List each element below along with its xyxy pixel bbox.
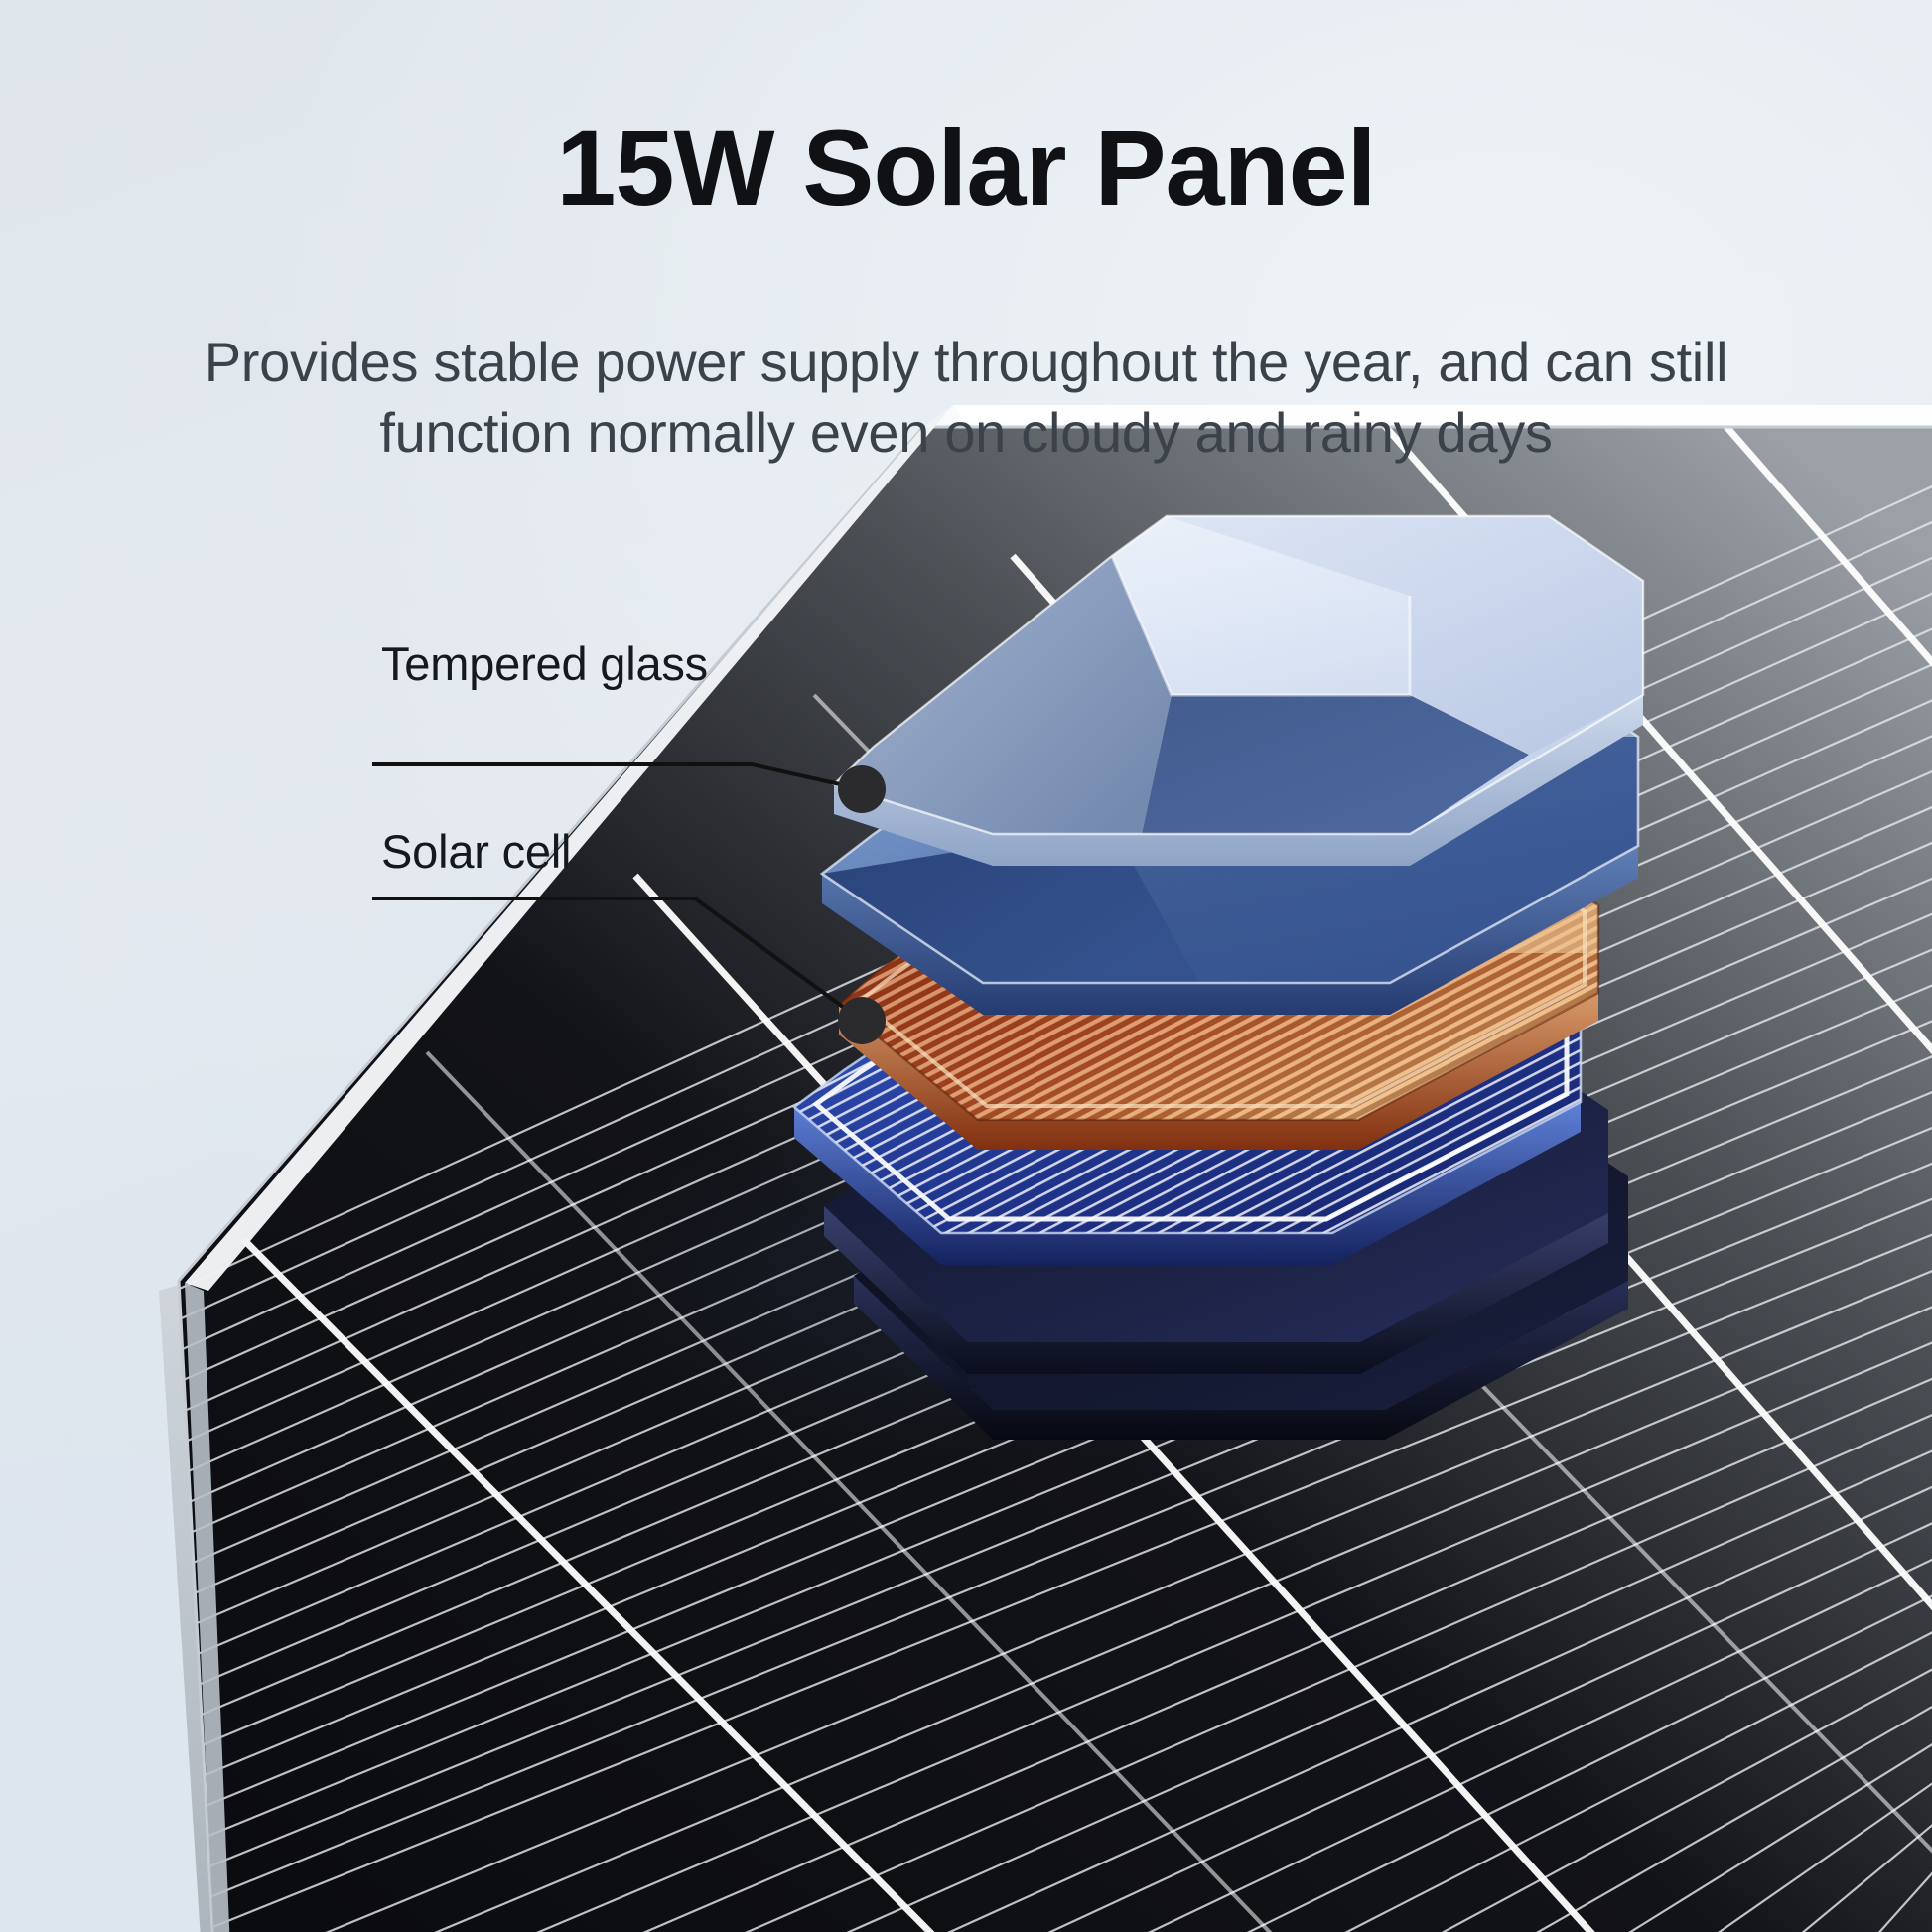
module-frame-highlight bbox=[953, 405, 1932, 429]
leader-dot-solar-cell bbox=[838, 997, 886, 1044]
product-feature-image: 15W Solar Panel Provides stable power su… bbox=[0, 0, 1932, 1932]
solar-panel-illustration bbox=[0, 0, 1932, 1932]
leader-dot-tempered-glass bbox=[838, 765, 886, 813]
